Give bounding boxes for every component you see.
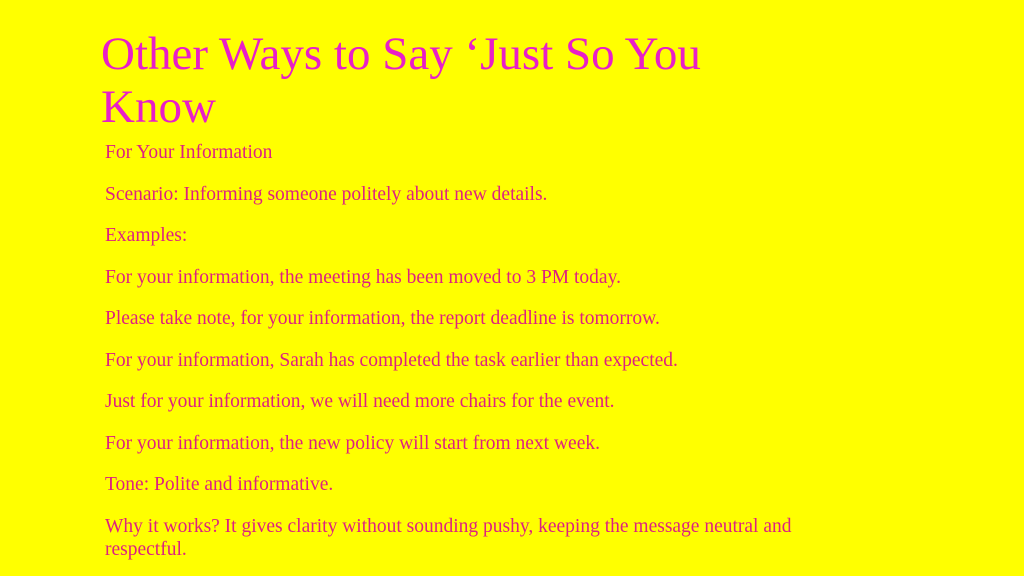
body-paragraph-example-2: Please take note, for your information, …: [105, 307, 865, 349]
body-paragraph-examples-label: Examples:: [105, 224, 865, 266]
presentation-slide: Other Ways to Say ‘Just So You Know For …: [0, 0, 1024, 576]
body-paragraph-why-it-works: Why it works? It gives clarity without s…: [105, 515, 865, 561]
body-paragraph-heading: For Your Information: [105, 141, 865, 183]
body-paragraph-example-3: For your information, Sarah has complete…: [105, 349, 865, 391]
body-paragraph-scenario: Scenario: Informing someone politely abo…: [105, 183, 865, 225]
body-paragraph-tone: Tone: Polite and informative.: [105, 473, 865, 515]
body-paragraph-example-4: Just for your information, we will need …: [105, 390, 865, 432]
body-paragraph-example-5: For your information, the new policy wil…: [105, 432, 865, 474]
slide-body: For Your Information Scenario: Informing…: [105, 141, 865, 561]
body-paragraph-example-1: For your information, the meeting has be…: [105, 266, 865, 308]
slide-title: Other Ways to Say ‘Just So You Know: [101, 28, 721, 134]
